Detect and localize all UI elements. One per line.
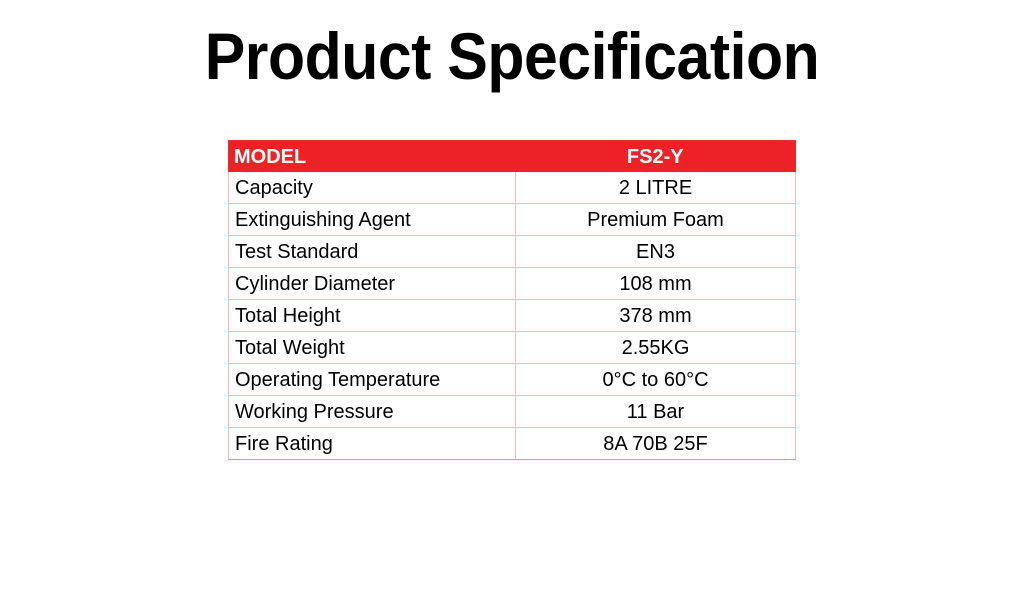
- spec-table-body: Capacity 2 LITRE Extinguishing Agent Pre…: [229, 172, 796, 460]
- table-row: Total Height 378 mm: [229, 300, 796, 332]
- row-label: Total Weight: [229, 332, 516, 364]
- table-header-row: MODEL FS2-Y: [229, 141, 796, 173]
- table-row: Extinguishing Agent Premium Foam: [229, 204, 796, 236]
- row-label: Test Standard: [229, 236, 516, 268]
- row-value: 108 mm: [516, 268, 796, 300]
- table-row: Cylinder Diameter 108 mm: [229, 268, 796, 300]
- table-row: Capacity 2 LITRE: [229, 172, 796, 204]
- table-row: Test Standard EN3: [229, 236, 796, 268]
- row-value: 11 Bar: [516, 396, 796, 428]
- header-cell-model-value: FS2-Y: [516, 141, 796, 173]
- spec-table-head: MODEL FS2-Y: [229, 141, 796, 173]
- header-cell-model: MODEL: [229, 141, 516, 173]
- row-label: Operating Temperature: [229, 364, 516, 396]
- row-label: Working Pressure: [229, 396, 516, 428]
- row-label: Cylinder Diameter: [229, 268, 516, 300]
- product-specification-table: MODEL FS2-Y Capacity 2 LITRE Extinguishi…: [228, 140, 795, 460]
- table-row: Fire Rating 8A 70B 25F: [229, 428, 796, 460]
- row-label: Extinguishing Agent: [229, 204, 516, 236]
- spec-table: MODEL FS2-Y Capacity 2 LITRE Extinguishi…: [228, 140, 796, 460]
- row-value: 0°C to 60°C: [516, 364, 796, 396]
- row-value: EN3: [516, 236, 796, 268]
- table-row: Operating Temperature 0°C to 60°C: [229, 364, 796, 396]
- row-value: Premium Foam: [516, 204, 796, 236]
- row-value: 8A 70B 25F: [516, 428, 796, 460]
- page-title: Product Specification: [41, 19, 983, 93]
- row-label: Capacity: [229, 172, 516, 204]
- row-label: Fire Rating: [229, 428, 516, 460]
- row-label: Total Height: [229, 300, 516, 332]
- table-row: Total Weight 2.55KG: [229, 332, 796, 364]
- row-value: 2 LITRE: [516, 172, 796, 204]
- row-value: 378 mm: [516, 300, 796, 332]
- row-value: 2.55KG: [516, 332, 796, 364]
- table-row: Working Pressure 11 Bar: [229, 396, 796, 428]
